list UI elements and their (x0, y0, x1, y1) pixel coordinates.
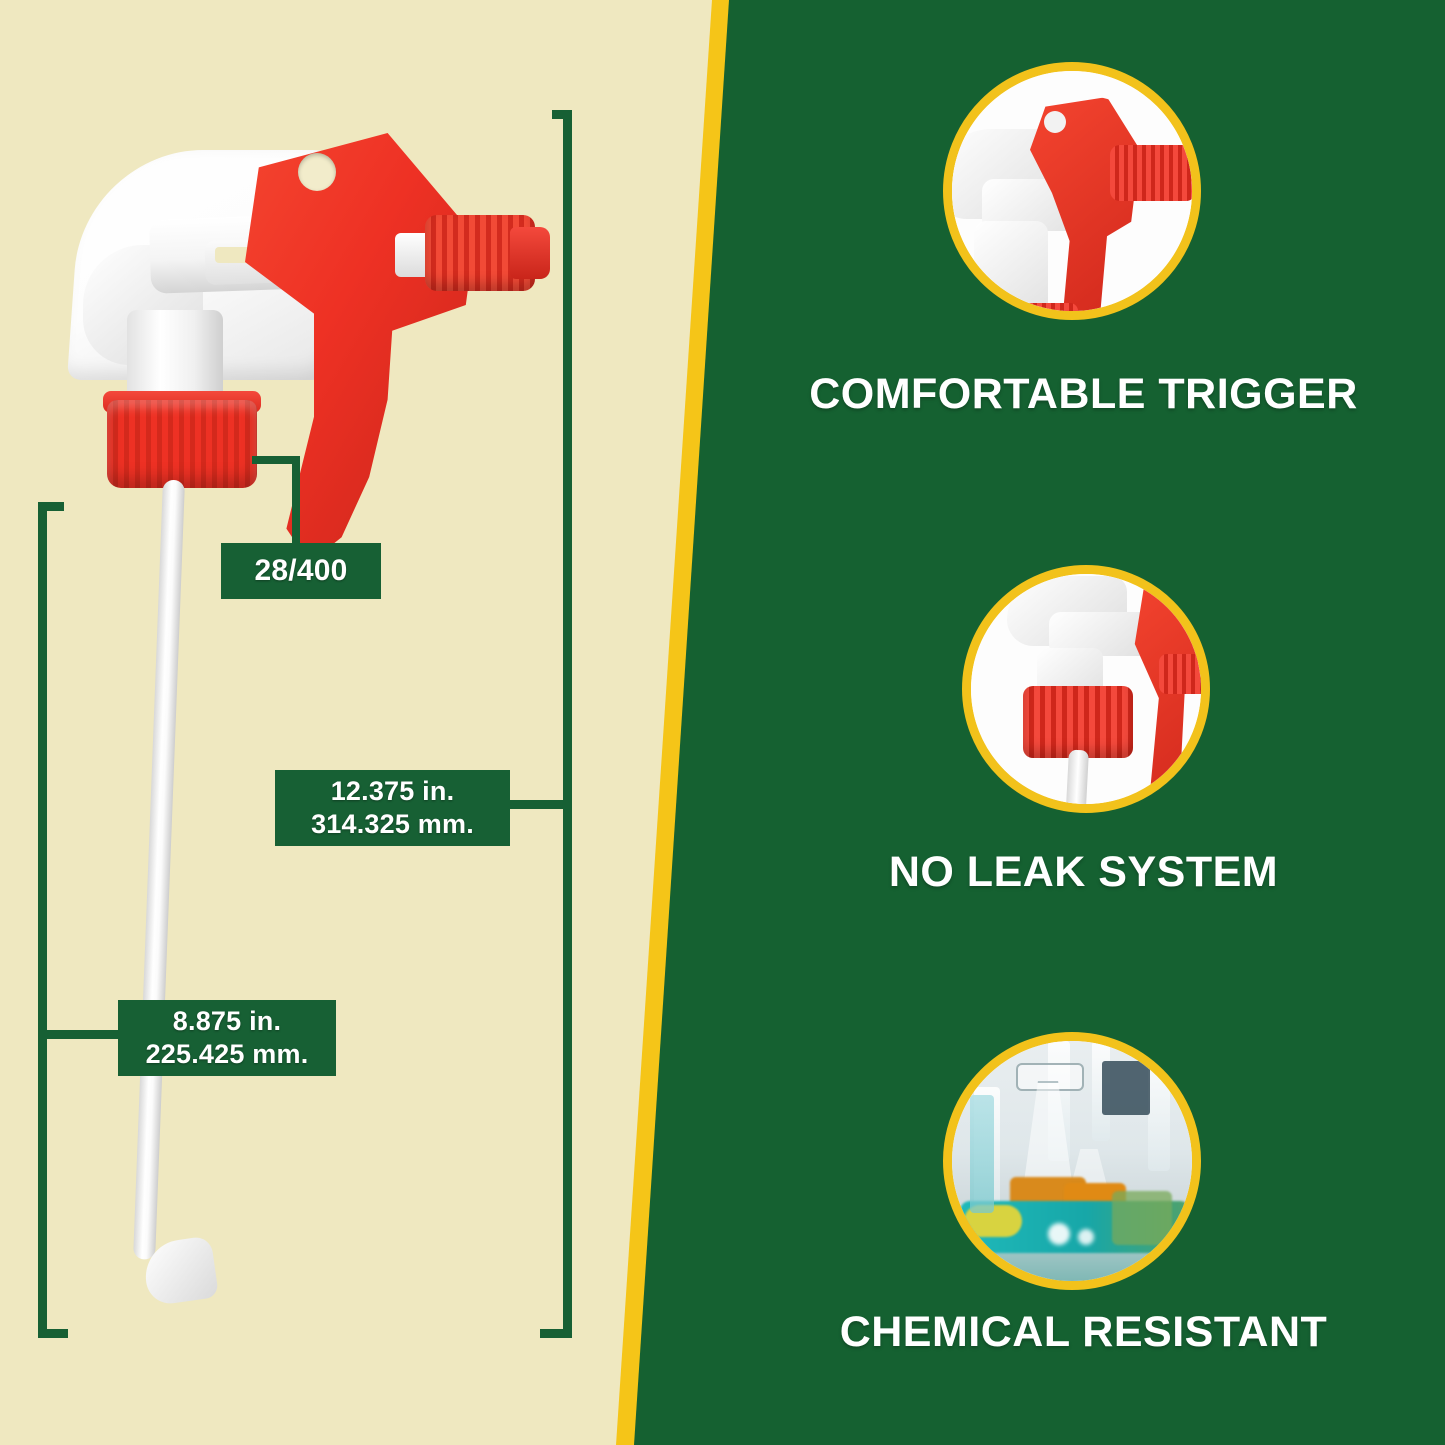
feature-image-comfortable-trigger (943, 62, 1201, 320)
feature-title-comfortable-trigger: COMFORTABLE TRIGGER (722, 370, 1445, 419)
laboratory-glassware-photo (952, 1041, 1192, 1281)
sprayer-nozzle-tip (510, 227, 550, 279)
sprayer-dip-tube (133, 480, 185, 1260)
product-image-trigger-sprayer (55, 95, 575, 1375)
callout-neck-finish-text: 28/400 (255, 553, 348, 590)
callout-overall-length: 12.375 in. 314.325 mm. (275, 770, 510, 846)
callout-overall-length-text: 12.375 in. 314.325 mm. (311, 775, 474, 841)
cap-closeup-photo (971, 574, 1201, 804)
callout-dip-tube-length: 8.875 in. 225.425 mm. (118, 1000, 336, 1076)
callout-neck-finish: 28/400 (221, 543, 381, 599)
feature-image-chemical-resistant (943, 1032, 1201, 1290)
feature-image-no-leak-system (962, 565, 1210, 813)
feature-title-no-leak-system: NO LEAK SYSTEM (722, 848, 1445, 897)
sprayer-trigger-pivot-hole (298, 153, 336, 191)
infographic-canvas: 28/400 12.375 in. 314.325 mm. 8.875 in. … (0, 0, 1445, 1445)
callout-dip-tube-length-text: 8.875 in. 225.425 mm. (146, 1005, 309, 1071)
sprayer-closure-cap (107, 400, 257, 488)
trigger-closeup-photo (952, 71, 1192, 311)
feature-title-chemical-resistant: CHEMICAL RESISTANT (722, 1308, 1445, 1357)
